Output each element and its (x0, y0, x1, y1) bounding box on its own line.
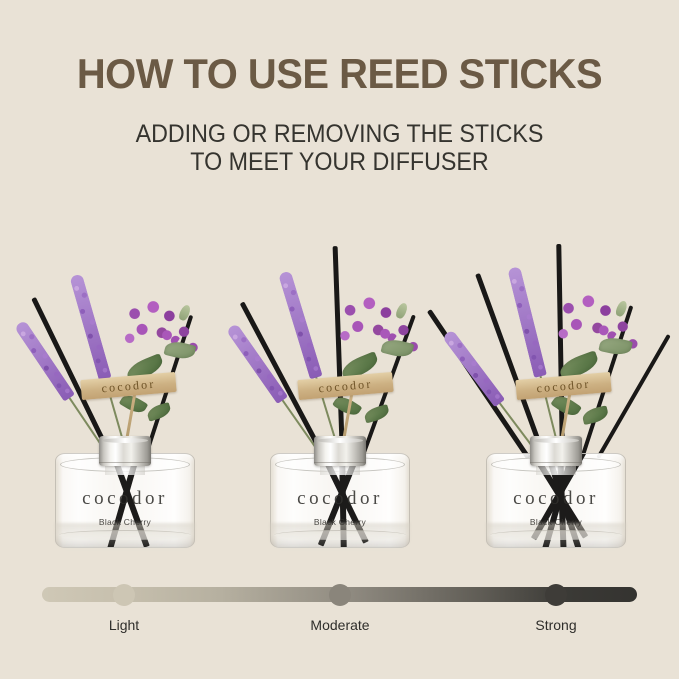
page-subtitle: ADDING OR REMOVING THE STICKS TO MEET YO… (24, 120, 655, 177)
sage-leaf (581, 405, 610, 425)
bottle-reflection (486, 523, 626, 549)
tag-label: cocodor (536, 376, 591, 396)
bottle-strong: cocodor Black Cherry (486, 436, 626, 548)
product-row: cocodor cocodor Black Cherry (0, 200, 679, 570)
bottle-light: cocodor Black Cherry (55, 436, 195, 548)
slider-knob-moderate[interactable] (329, 584, 351, 606)
slider-knob-strong[interactable] (545, 584, 567, 606)
bouquet-moderate: cocodor (240, 238, 440, 458)
subtitle-line-1: ADDING OR REMOVING THE STICKS (24, 120, 655, 148)
subtitle-line-2: TO MEET YOUR DIFFUSER (24, 148, 655, 176)
bottle-reflection (55, 523, 195, 549)
bouquet-light: cocodor (25, 238, 225, 458)
tag-label: cocodor (101, 376, 156, 396)
slider-label-strong: Strong (535, 617, 576, 633)
slider-knob-light[interactable] (113, 584, 135, 606)
intensity-slider[interactable]: Light Moderate Strong (0, 577, 679, 647)
product-tag: cocodor (515, 372, 611, 400)
bottle-reflection (270, 523, 410, 549)
diffuser-moderate: cocodor cocodor Black Cherry (240, 200, 440, 570)
bottle-cap (530, 436, 582, 466)
slider-label-light: Light (109, 617, 139, 633)
slider-label-moderate: Moderate (310, 617, 369, 633)
diffuser-light: cocodor cocodor Black Cherry (25, 200, 225, 570)
tag-label: cocodor (318, 376, 373, 396)
page-title: HOW TO USE REED STICKS (17, 50, 662, 98)
bottle-moderate: cocodor Black Cherry (270, 436, 410, 548)
green-bud (394, 302, 409, 320)
bouquet-strong: cocodor (456, 238, 656, 458)
bottle-cap (314, 436, 366, 466)
diffuser-strong: cocodor cocodor Black Cherry (456, 200, 656, 570)
bottle-cap (99, 436, 151, 466)
